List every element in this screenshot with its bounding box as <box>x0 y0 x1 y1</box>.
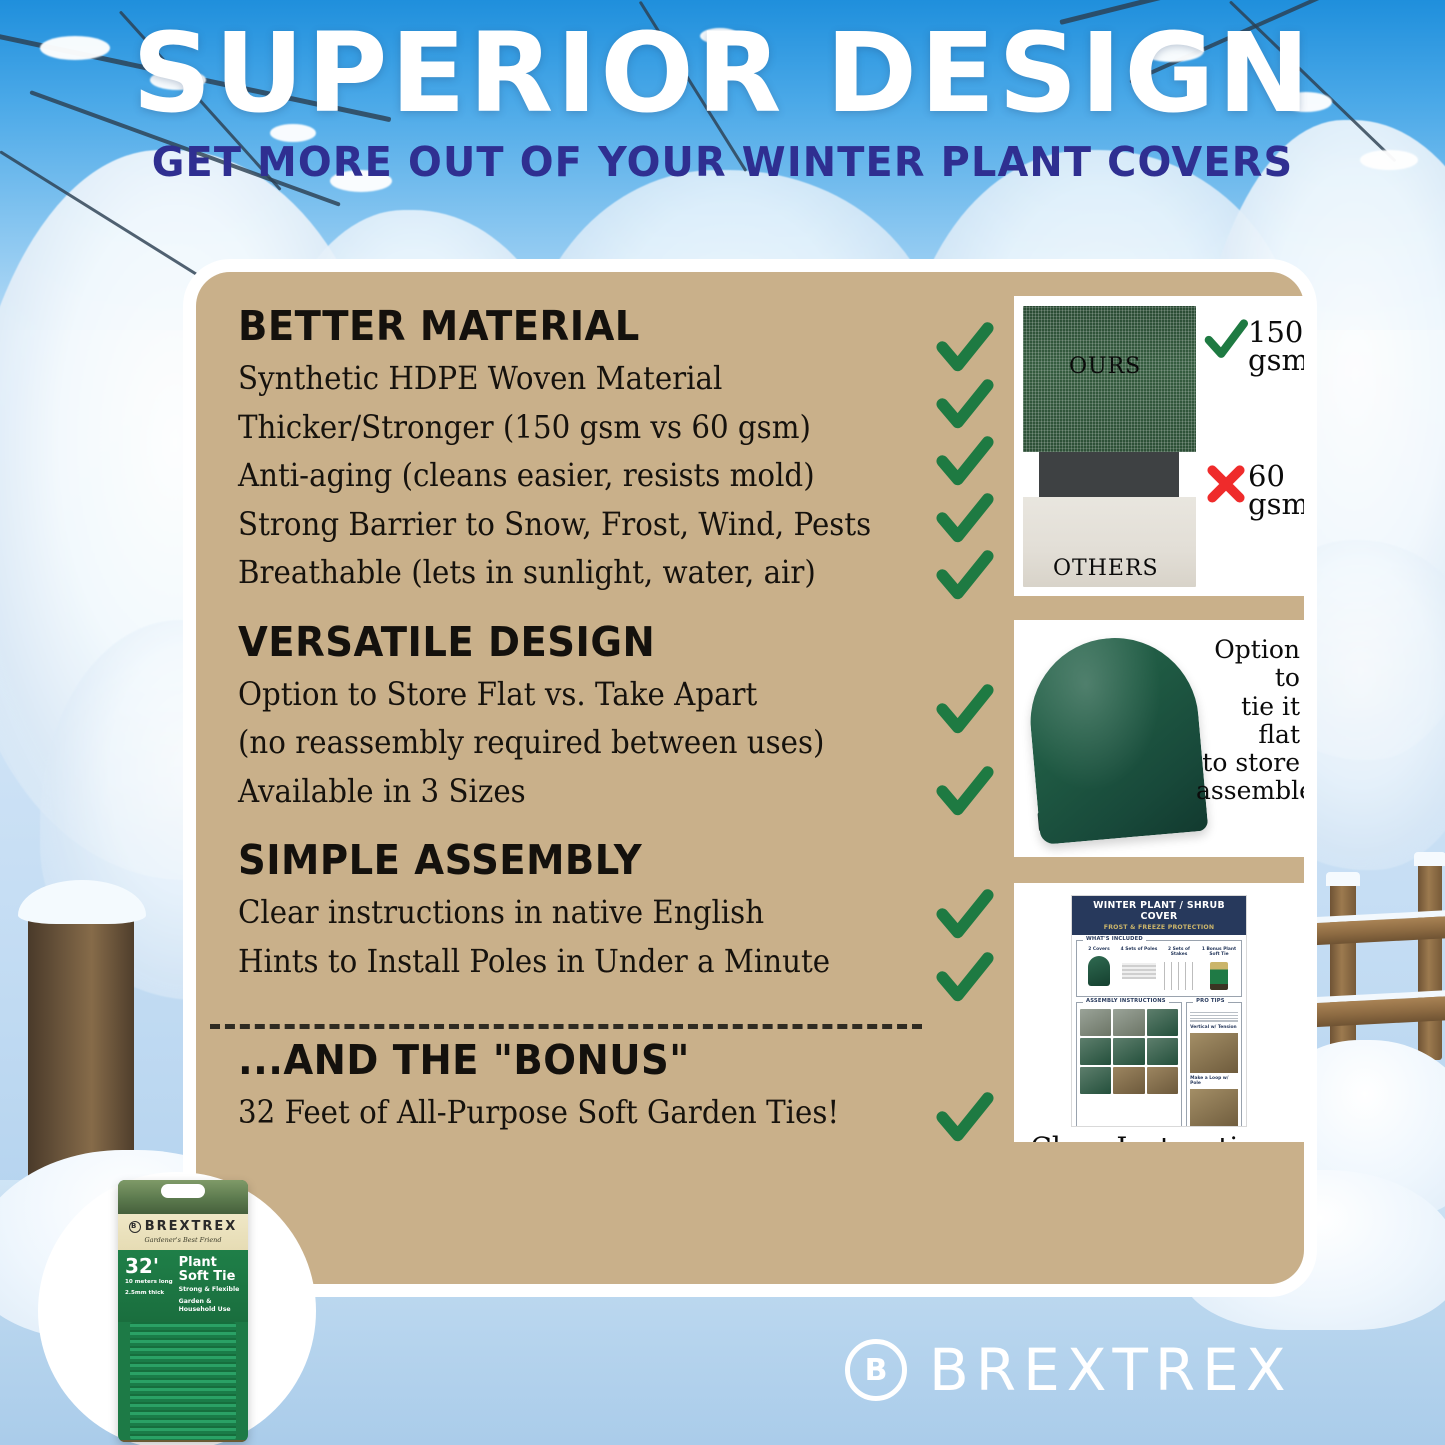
soft-tie-coil <box>130 1322 236 1440</box>
package-brand-name: BREXTREX <box>145 1219 238 1234</box>
panel-instructions: WINTER PLANT / SHRUB COVER FROST & FREEZ… <box>1014 883 1304 1142</box>
pro-tips-column: PRO TIPS Vertical w/ Tension Make a Loop… <box>1186 1002 1242 1127</box>
cover-thumb-icon <box>1080 954 1118 988</box>
brand-mark-icon: B <box>129 1221 141 1233</box>
section-better-material: BETTER MATERIAL Synthetic HDPE Woven Mat… <box>238 306 926 590</box>
check-icon <box>936 491 994 549</box>
cross-icon <box>1204 462 1248 506</box>
package-brand-band: B BREXTREX Gardener's Best Friend <box>118 1214 248 1250</box>
others-gsm-value: 60 gsm <box>1248 462 1304 519</box>
included-item: 4 Sets of Poles <box>1120 947 1158 993</box>
package-length: 32' <box>125 1256 173 1276</box>
tip-1-label: Vertical w/ Tension <box>1190 1025 1238 1030</box>
package-spec-1: 10 meters long <box>125 1279 173 1287</box>
section-line: Available in 3 Sizes <box>238 777 878 809</box>
package-length-block: 32' 10 meters long 2.5mm thick <box>125 1256 173 1314</box>
instruction-sheet-thumbnail: WINTER PLANT / SHRUB COVER FROST & FREEZ… <box>1071 895 1247 1127</box>
sheet-included-box: WHAT'S INCLUDED 2 Covers 4 Sets of Poles… <box>1076 940 1242 997</box>
fence-post-snow <box>1326 872 1360 886</box>
package-info-band: 32' 10 meters long 2.5mm thick Plant Sof… <box>118 1250 248 1322</box>
section-line: Thicker/Stronger (150 gsm vs 60 gsm) <box>238 413 878 445</box>
sheet-title: WINTER PLANT / SHRUB COVER <box>1074 900 1244 922</box>
fabric-shadow <box>1039 452 1179 497</box>
checkmark-column <box>926 272 1014 1284</box>
section-divider <box>210 1024 922 1029</box>
assembly-step <box>1113 1067 1144 1094</box>
check-icon <box>1204 318 1248 362</box>
tip-text-lines <box>1190 1008 1238 1022</box>
section-line: Breathable (lets in sunlight, water, air… <box>238 558 878 590</box>
caption-line: assembled <box>1196 777 1300 805</box>
package-feature-1: Strong & Flexible <box>179 1286 241 1294</box>
package-footer-band: 32' 10 Meters Soft Plant Tie 150 Materia… <box>118 1440 248 1442</box>
section-title: SIMPLE ASSEMBLY <box>238 840 885 881</box>
footer-brand: B BREXTREX <box>845 1336 1293 1404</box>
package-hang-hole <box>161 1184 205 1198</box>
section-title: BETTER MATERIAL <box>238 306 885 347</box>
section-simple-assembly: SIMPLE ASSEMBLY Clear instructions in na… <box>238 840 926 978</box>
included-item: 2 Covers <box>1080 947 1118 993</box>
panel-store-flat: Option to tie it flat to store assembled <box>1014 620 1304 857</box>
section-line: 32 Feet of All-Purpose Soft Garden Ties! <box>238 1098 878 1130</box>
section-bonus: ...AND THE "BONUS" 32 Feet of All-Purpos… <box>238 1040 926 1130</box>
brand-logo-icon: B <box>845 1339 907 1401</box>
soft-tie-thumb-icon <box>1200 959 1238 993</box>
check-icon <box>936 377 994 435</box>
sheet-columns: ASSEMBLY INSTRUCTIONS <box>1076 1002 1242 1127</box>
tip-2-photo <box>1190 1089 1238 1127</box>
check-icon <box>936 887 994 945</box>
store-flat-caption: Option to tie it flat to store assembled <box>1196 636 1300 806</box>
caption-line: Option to <box>1196 636 1300 693</box>
tip-1-photo <box>1190 1033 1238 1073</box>
check-icon <box>936 764 994 822</box>
included-label: WHAT'S INCLUDED <box>1083 936 1146 942</box>
assembly-step <box>1113 1038 1144 1065</box>
section-line: Option to Store Flat vs. Take Apart <box>238 680 878 712</box>
check-icon <box>936 434 994 492</box>
brand-name: BREXTREX <box>929 1336 1293 1404</box>
others-gsm-row: 60 gsm <box>1204 462 1298 519</box>
check-icon <box>936 950 994 1008</box>
assembly-label: ASSEMBLY INSTRUCTIONS <box>1083 998 1169 1004</box>
tip-2-label: Make a Loop w/ Pole <box>1190 1076 1238 1086</box>
section-line: (no reassembly required between uses) <box>238 728 878 760</box>
ours-gsm-row: 150 gsm <box>1204 318 1298 375</box>
caption-line: tie it <box>1196 693 1300 721</box>
package-header-photo <box>118 1180 248 1214</box>
caption-line: Clear Instructions <box>1014 1133 1304 1142</box>
package-brand: B BREXTREX <box>118 1219 248 1234</box>
included-item-label: 2 Covers <box>1080 947 1118 952</box>
included-item-label: 1 Bonus Plant Soft Tie <box>1200 947 1238 957</box>
assembly-column: ASSEMBLY INSTRUCTIONS <box>1076 1002 1182 1127</box>
sheet-header: WINTER PLANT / SHRUB COVER FROST & FREEZ… <box>1072 896 1246 935</box>
package-feature-2: Garden & Household Use <box>179 1298 241 1315</box>
fabric-comparison-photo: OURS OTHERS <box>1023 306 1196 587</box>
caption-line: flat <box>1196 721 1300 749</box>
section-line: Hints to Install Poles in Under a Minute <box>238 947 878 979</box>
instructions-caption: Clear Instructions Included <box>1014 1133 1304 1142</box>
panel-material-comparison: OURS OTHERS 150 gsm 60 <box>1014 296 1304 596</box>
section-line: Clear instructions in native English <box>238 898 878 930</box>
included-item: 2 Sets of Stakes <box>1160 947 1198 993</box>
section-line: Strong Barrier to Snow, Frost, Wind, Pes… <box>238 510 878 542</box>
product-package: B BREXTREX Gardener's Best Friend 32' 10… <box>118 1180 248 1442</box>
assembly-step <box>1113 1009 1144 1036</box>
package-spec-2: 2.5mm thick <box>125 1290 173 1298</box>
section-title: VERSATILE DESIGN <box>238 622 885 663</box>
package-product-name: Plant Soft Tie <box>179 1256 241 1283</box>
assembly-step <box>1080 1067 1111 1094</box>
included-grid: 2 Covers 4 Sets of Poles 2 Sets of Stake… <box>1080 944 1238 993</box>
assembly-steps <box>1080 1006 1178 1094</box>
fence-post <box>1418 860 1442 1060</box>
section-line: Anti-aging (cleans easier, resists mold) <box>238 461 878 493</box>
ours-label: OURS <box>1069 354 1141 379</box>
included-item-label: 2 Sets of Stakes <box>1160 947 1198 957</box>
header: SUPERIOR DESIGN GET MORE OUT OF YOUR WIN… <box>0 18 1445 185</box>
caption-line: to store <box>1196 749 1300 777</box>
assembly-step <box>1147 1038 1178 1065</box>
assembly-step <box>1147 1009 1178 1036</box>
sheet-subtitle: FROST & FREEZE PROTECTION <box>1074 924 1244 931</box>
package-name-block: Plant Soft Tie Strong & Flexible Garden … <box>179 1256 241 1314</box>
assembly-step <box>1080 1038 1111 1065</box>
plant-cover-photo <box>1028 632 1200 844</box>
ours-gsm-value: 150 gsm <box>1248 318 1304 375</box>
image-panel-column: OURS OTHERS 150 gsm 60 <box>1014 272 1304 1284</box>
page-subtitle: GET MORE OUT OF YOUR WINTER PLANT COVERS <box>22 140 1424 185</box>
poles-thumb-icon <box>1120 954 1158 988</box>
assembly-step <box>1080 1009 1111 1036</box>
cover-body <box>1024 631 1209 845</box>
ours-fabric <box>1023 306 1196 452</box>
check-icon <box>936 682 994 740</box>
feature-card: BETTER MATERIAL Synthetic HDPE Woven Mat… <box>196 272 1304 1284</box>
package-tagline: Gardener's Best Friend <box>118 1236 248 1244</box>
pro-tips-label: PRO TIPS <box>1193 998 1228 1004</box>
section-line: Synthetic HDPE Woven Material <box>238 364 878 396</box>
section-title: ...AND THE "BONUS" <box>238 1040 885 1081</box>
fence-post-snow <box>1414 852 1445 866</box>
check-icon <box>936 1090 994 1148</box>
section-versatile-design: VERSATILE DESIGN Option to Store Flat vs… <box>238 622 926 809</box>
page-title: SUPERIOR DESIGN <box>0 18 1445 128</box>
feature-text-column: BETTER MATERIAL Synthetic HDPE Woven Mat… <box>196 272 926 1284</box>
check-icon <box>936 548 994 606</box>
assembly-step <box>1147 1067 1178 1094</box>
included-item: 1 Bonus Plant Soft Tie <box>1200 947 1238 993</box>
others-label: OTHERS <box>1053 556 1159 581</box>
check-icon <box>936 320 994 378</box>
included-item-label: 4 Sets of Poles <box>1120 947 1158 952</box>
stakes-thumb-icon <box>1160 959 1198 993</box>
